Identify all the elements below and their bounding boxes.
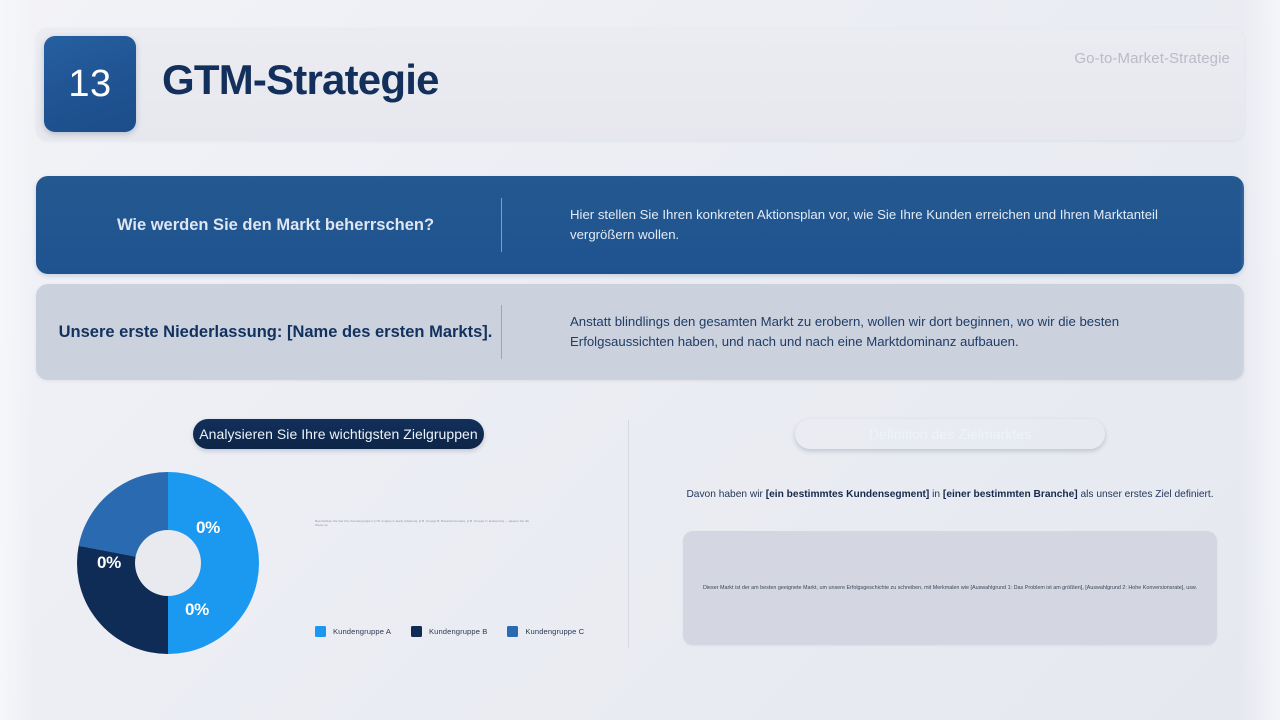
legend-label: Kundengruppe B <box>429 627 487 636</box>
target-segment-placeholder: [ein bestimmtes Kundensegment] <box>766 489 930 500</box>
banner-secondary: Unsere erste Niederlassung: [Name des er… <box>36 284 1244 380</box>
slide-number-badge: 13 <box>44 36 136 132</box>
banner-secondary-left: Unsere erste Niederlassung: [Name des er… <box>36 321 501 343</box>
page-title: GTM-Strategie <box>162 56 439 104</box>
legend-item: Kundengruppe C <box>507 626 584 637</box>
chart-legend: Kundengruppe AKundengruppe BKundengruppe… <box>315 626 584 637</box>
donut-label-a: 0% <box>97 553 121 573</box>
target-definition-line: Davon haben wir [ein bestimmtes Kundense… <box>683 487 1217 502</box>
banner-primary: Wie werden Sie den Markt beherrschen? Hi… <box>36 176 1244 274</box>
banner-secondary-body: Anstatt blindlings den gesamten Markt zu… <box>502 312 1244 353</box>
donut-label-b: 0% <box>196 518 220 538</box>
donut-hole <box>135 530 201 596</box>
chart-placeholder-note: Beschreiben Sie hier Ihre Kundengruppen:… <box>315 519 530 528</box>
legend-item: Kundengruppe B <box>411 626 487 637</box>
banner-primary-left: Wie werden Sie den Markt beherrschen? <box>36 214 501 236</box>
legend-label: Kundengruppe C <box>525 627 584 636</box>
right-section-pill: Definition des Zielmarktes <box>795 419 1105 449</box>
legend-swatch-icon <box>507 626 518 637</box>
left-section-pill: Analysieren Sie Ihre wichtigsten Zielgru… <box>193 419 484 449</box>
slide-canvas: 13 GTM-Strategie Go-to-Market-Strategie … <box>0 0 1280 720</box>
target-rationale-box: Dieser Markt ist der am besten geeignete… <box>683 531 1217 645</box>
banner-primary-title: Wie werden Sie den Markt beherrschen? <box>117 214 434 236</box>
header-eyebrow-label: Go-to-Market-Strategie <box>1074 50 1230 67</box>
target-rationale-text: Dieser Markt ist der am besten geeignete… <box>694 584 1206 592</box>
legend-item: Kundengruppe A <box>315 626 391 637</box>
target-text-part-3: als unser erstes Ziel definiert. <box>1078 489 1214 500</box>
target-industry-placeholder: [einer bestimmten Branche] <box>943 489 1078 500</box>
target-text-part-2: in <box>929 489 943 500</box>
donut-label-c: 0% <box>185 600 209 620</box>
legend-swatch-icon <box>315 626 326 637</box>
banner-secondary-title: Unsere erste Niederlassung: [Name des er… <box>59 321 493 343</box>
banner-primary-body: Hier stellen Sie Ihren konkreten Aktions… <box>502 205 1244 246</box>
column-divider <box>628 420 629 648</box>
donut-chart: 0% 0% 0% <box>77 472 259 654</box>
legend-swatch-icon <box>411 626 422 637</box>
target-text-part-1: Davon haben wir <box>686 489 765 500</box>
legend-label: Kundengruppe A <box>333 627 391 636</box>
